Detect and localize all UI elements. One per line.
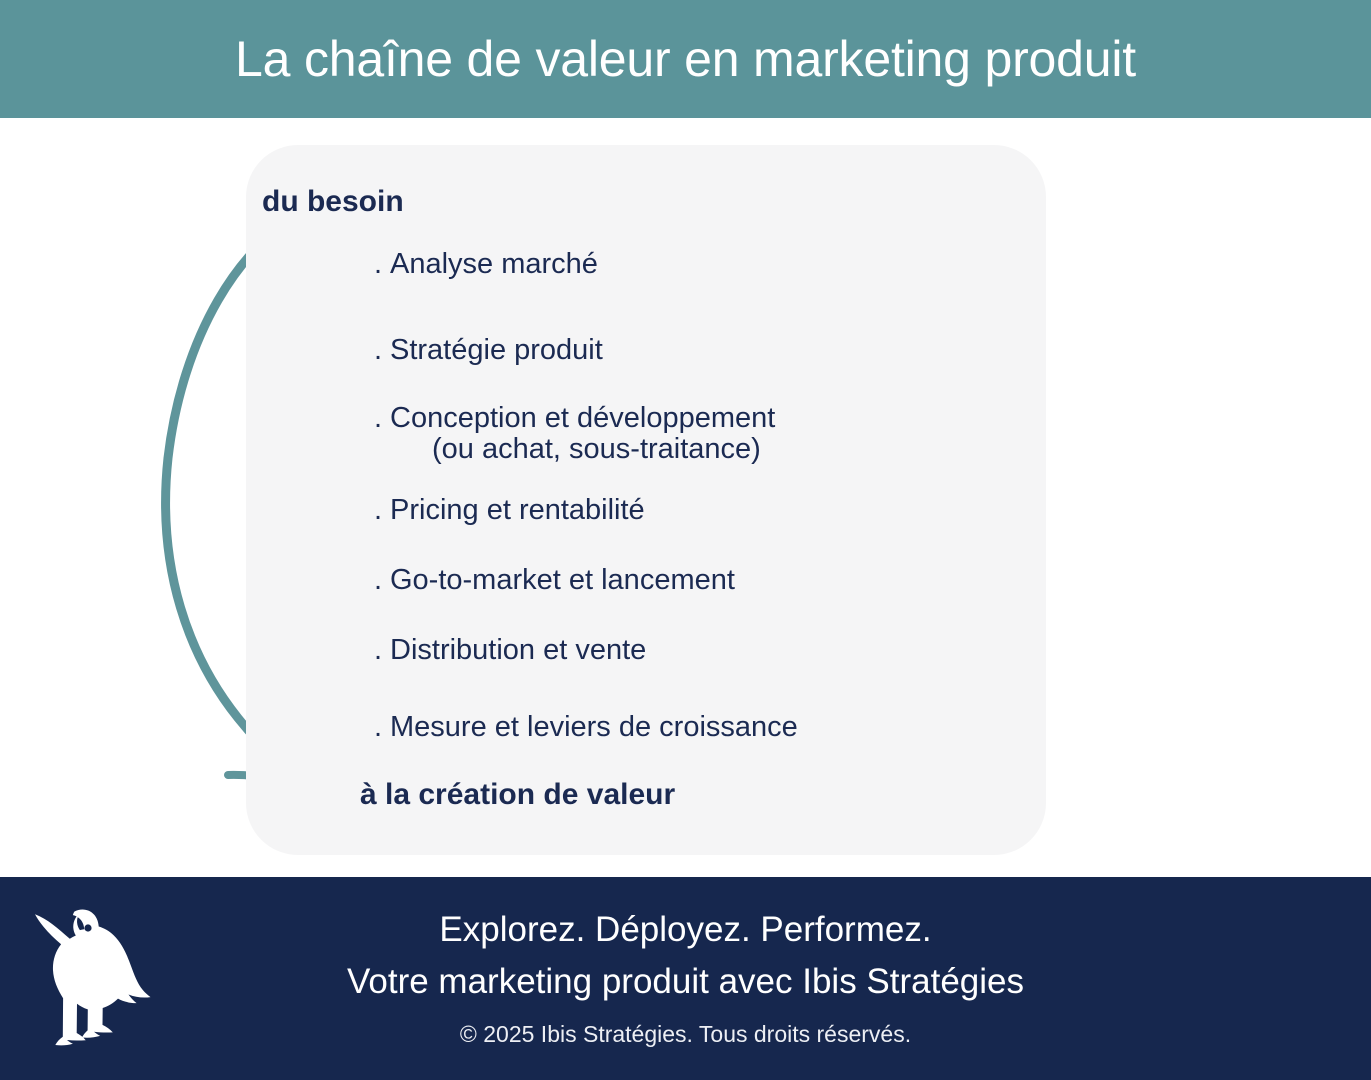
content-stage: du besoin .Analyse marché .Stratégie pro… [0,118,1371,877]
step-sublabel: (ou achat, sous-traitance) [374,434,775,465]
footer-copyright: © 2025 Ibis Stratégies. Tous droits rése… [460,1023,911,1046]
list-item: .Go-to-market et lancement [374,565,735,596]
step-label: Conception et développement [390,402,775,434]
list-item: .Pricing et rentabilité [374,495,645,526]
bullet-icon: . [374,712,390,743]
footer-tagline-line2: Votre marketing produit avec Ibis Straté… [347,964,1024,999]
value-chain-card: du besoin .Analyse marché .Stratégie pro… [246,145,1046,855]
page-title: La chaîne de valeur en marketing produit [235,34,1136,84]
step-label: Analyse marché [390,248,598,280]
step-label: Go-to-market et lancement [390,564,735,596]
step-label: Pricing et rentabilité [390,494,645,526]
footer-text-block: Explorez. Déployez. Performez. Votre mar… [180,877,1191,1080]
step-label: Stratégie produit [390,334,603,366]
bullet-icon: . [374,495,390,526]
bullet-icon: . [374,403,390,434]
bullet-icon: . [374,335,390,366]
bullet-icon: . [374,635,390,666]
value-chain-steps-list: .Analyse marché .Stratégie produit .Conc… [246,145,1046,855]
step-label: Mesure et leviers de croissance [390,711,798,743]
bullet-icon: . [374,249,390,280]
footer-tagline-line1: Explorez. Déployez. Performez. [439,912,931,947]
ibis-bird-logo [34,899,160,1049]
bullet-icon: . [374,565,390,596]
list-item: .Mesure et leviers de croissance [374,712,798,743]
list-item: .Conception et développement (ou achat, … [374,403,775,464]
list-item: .Analyse marché [374,249,598,280]
footer-band: Explorez. Déployez. Performez. Votre mar… [0,877,1371,1080]
chain-end-label: à la création de valeur [360,780,675,810]
list-item: .Stratégie produit [374,335,603,366]
list-item: .Distribution et vente [374,635,646,666]
step-label: Distribution et vente [390,634,646,666]
header-band: La chaîne de valeur en marketing produit [0,0,1371,118]
